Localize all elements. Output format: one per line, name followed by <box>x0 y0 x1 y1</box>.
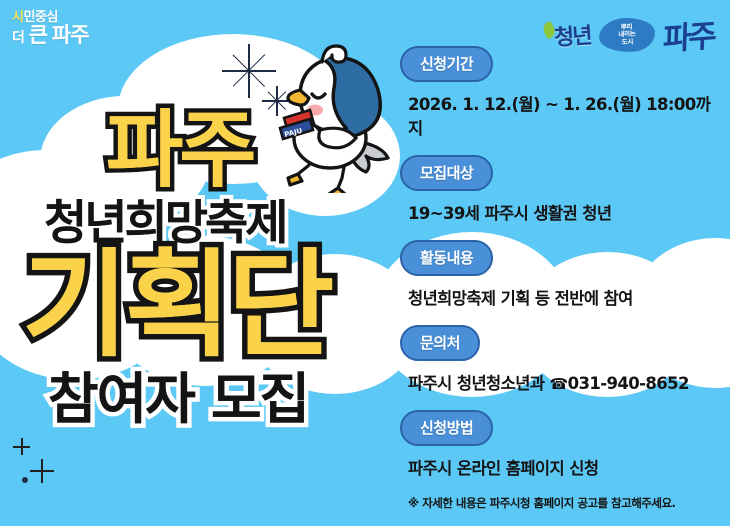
value-application-period: 2026. 1. 12.(월) ~ 1. 26.(월) 18:00까지 <box>408 91 720 139</box>
info-row-target: 모집대상 19~39세 파주시 생활권 청년 <box>400 155 720 224</box>
paju-wordmark: 파주 <box>662 10 715 59</box>
sparkle-icon-3 <box>30 459 54 483</box>
info-row-method: 신청방법 파주시 온라인 홈페이지 신청 <box>400 410 720 479</box>
badge-recruitment-target: 모집대상 <box>400 155 493 191</box>
info-row-contact: 문의처 파주시 청년청소년과 ☎031-940-8652 <box>400 325 720 394</box>
telephone-icon: ☎ <box>550 375 568 393</box>
contact-department: 파주시 청년청소년과 <box>408 374 550 393</box>
sparkle-icon-4 <box>13 438 30 455</box>
badge-application-method: 신청방법 <box>400 410 493 446</box>
sparkle-dot <box>22 477 28 483</box>
info-panel: 신청기간 2026. 1. 12.(월) ~ 1. 26.(월) 18:00까지… <box>400 46 720 511</box>
value-recruitment-target: 19~39세 파주시 생활권 청년 <box>408 200 720 224</box>
value-application-method: 파주시 온라인 홈페이지 신청 <box>408 455 720 479</box>
slogan-line2-small: 더 <box>12 29 24 45</box>
brush-line2: 내리는 <box>618 30 635 38</box>
paju-bird-mascot-icon: PAJU <box>268 38 398 193</box>
slogan-line1: 민중심 <box>23 9 57 24</box>
info-row-period: 신청기간 2026. 1. 12.(월) ~ 1. 26.(월) 18:00까지 <box>400 46 720 139</box>
badge-activity-details: 활동내용 <box>400 240 493 276</box>
value-activity-details: 청년희망축제 기획 등 전반에 참여 <box>408 285 720 309</box>
contact-phone-number: 031-940-8652 <box>568 374 689 393</box>
info-row-activity: 활동내용 청년희망축제 기획 등 전반에 참여 <box>400 240 720 309</box>
brush-line3: 도시 <box>621 38 633 46</box>
poster-canvas: 시민중심 더 큰 파주 청년 뿌리 내리는 도시 파주 <box>0 0 730 526</box>
youth-logo: 청년 <box>553 17 592 51</box>
slogan-line2-main: 큰 파주 <box>29 24 89 47</box>
badge-contact: 문의처 <box>400 325 480 361</box>
footnote: ※ 자세한 내용은 파주시청 홈페이지 공고를 참고해주세요. <box>408 495 720 511</box>
youth-logo-text: 청년 <box>554 23 592 50</box>
value-contact: 파주시 청년청소년과 ☎031-940-8652 <box>408 370 720 394</box>
city-slogan-logo: 시민중심 더 큰 파주 <box>12 10 89 46</box>
paju-brand-logo: 청년 뿌리 내리는 도시 파주 <box>554 12 714 57</box>
headline-paju: 파주 <box>106 108 253 192</box>
mascot-illustration: PAJU <box>268 38 398 193</box>
badge-application-period: 신청기간 <box>400 46 493 82</box>
headline-recruit: 참여자 모집 <box>48 372 308 427</box>
headline-team: 기획단 <box>22 248 330 364</box>
brush-badge: 뿌리 내리는 도시 <box>598 16 656 53</box>
slogan-accent-char: 시 <box>12 9 23 24</box>
brush-line1: 뿌리 <box>621 23 633 31</box>
